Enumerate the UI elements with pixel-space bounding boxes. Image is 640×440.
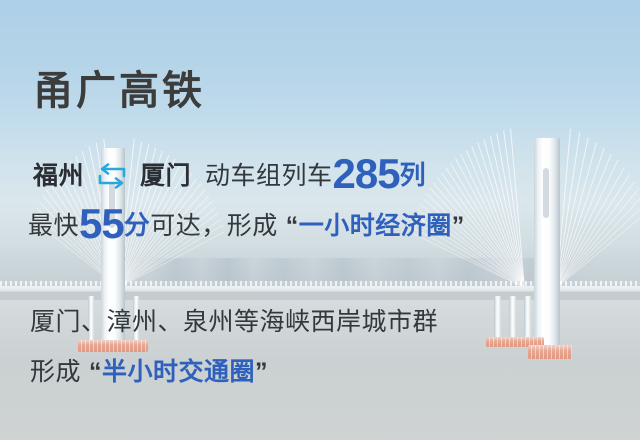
duration-line: 最快55分可达，形成“一小时经济圈”	[28, 200, 465, 248]
duration-unit: 分	[124, 210, 151, 240]
train-count-value: 285	[333, 150, 400, 197]
quote-open-1: “	[286, 212, 299, 240]
duration-minutes-value: 55	[79, 200, 124, 247]
city-cluster-line: 厦门、漳州、泉州等海峡西岸城市群	[30, 302, 438, 338]
quote-close-1: ”	[452, 212, 465, 240]
route-line: 福州 厦门动车组列车285列	[33, 150, 426, 198]
one-hour-economic-circle-label: 一小时经济圈	[299, 212, 452, 240]
poster-root: 甬广高铁 福州 厦门动车组列车285列 最快55分可达，形成“一小时经济圈” 厦…	[0, 0, 640, 440]
duration-suffix: 可达，形成	[150, 212, 278, 240]
destination-city-label: 厦门	[140, 162, 191, 190]
half-hour-transport-circle-label: 半小时交通圈	[102, 358, 255, 386]
train-count-unit: 列	[400, 160, 427, 190]
duration-prefix: 最快	[28, 212, 79, 240]
poster-text-content: 甬广高铁 福州 厦门动车组列车285列 最快55分可达，形成“一小时经济圈” 厦…	[0, 0, 640, 440]
page-title: 甬广高铁	[33, 58, 205, 116]
quote-open-2: “	[89, 358, 102, 386]
train-type-label: 动车组列车	[205, 162, 333, 190]
cluster-prefix: 形成	[30, 358, 81, 386]
transport-circle-line: 形成“半小时交通圈”	[30, 352, 268, 388]
quote-close-2: ”	[255, 358, 268, 386]
origin-city-label: 福州	[33, 162, 84, 190]
swap-arrows-icon	[90, 163, 134, 189]
